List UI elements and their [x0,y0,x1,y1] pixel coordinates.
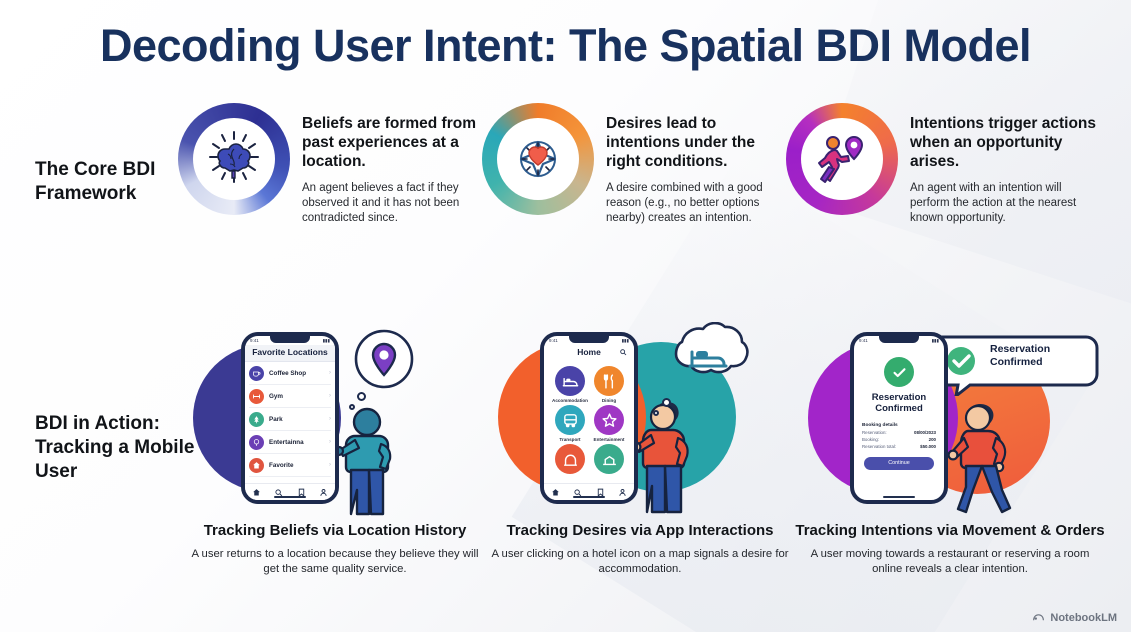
app-tile-entertainment[interactable]: Entertainment [592,405,626,442]
core-bdi-row: Beliefs are formed from past experiences… [0,95,1131,285]
booking-row-label: Reservation: [862,430,887,435]
scene1-caption: Tracking Beliefs via Location History A … [185,522,485,578]
app-tile-label: Entertainment [592,437,626,442]
thought-dot-small [653,410,659,416]
phone-notch [569,336,609,343]
scene-tracking-beliefs: 9:41 ▮▮▮ Favorite Locations Coffee Shop … [185,320,485,620]
booking-row: Reservation total: $50.000 [862,444,936,449]
beliefs-heading: Beliefs are formed from past experiences… [302,115,480,172]
phone-notch [879,336,919,343]
notebooklm-watermark: NotebookLM [1032,611,1117,624]
landmark-icon [594,444,624,474]
intentions-heading: Intentions trigger actions when an oppor… [910,115,1096,172]
list-item-label: Favorite [269,462,324,469]
status-icons: ▮▮▮ [932,338,939,344]
phone-header-title: Home [544,345,634,361]
person-pointing-left-scene [335,406,407,518]
desires-ring [482,103,594,215]
chevron-right-icon: › [329,416,331,422]
app-tile-label: Transport [552,437,588,442]
caption-heading: Tracking Beliefs via Location History [185,522,485,540]
star-icon [594,405,624,435]
bdi-card-intentions: Intentions trigger actions when an oppor… [786,95,1096,275]
list-item[interactable]: Coffee Shop › [249,362,331,385]
booking-row-label: Reservation total: [862,444,896,449]
phone-notch [270,336,310,343]
speech-bubble-text: Reservation Confirmed [990,343,1098,369]
status-icons: ▮▮▮ [323,338,330,344]
phone-header-text: Home [577,347,601,357]
caption-body: A user moving towards a restaurant or re… [795,547,1105,577]
home-icon[interactable] [551,488,560,497]
app-tile-dining[interactable]: Dining [592,366,626,403]
caption-heading: Tracking Intentions via Movement & Order… [795,522,1105,540]
scene-tracking-intentions: Reservation Confirmed 9:41 ▮▮▮ Reservati… [800,320,1100,620]
bdi-card-beliefs: Beliefs are formed from past experiences… [178,95,478,275]
app-tile-label: Accommodation [552,398,588,403]
bdi-in-action-row: 9:41 ▮▮▮ Favorite Locations Coffee Shop … [0,320,1131,620]
infographic-canvas: Decoding User Intent: The Spatial BDI Mo… [0,0,1131,632]
caption-heading: Tracking Desires via App Interactions [490,522,790,540]
booking-row: Booking: 200 [862,437,936,442]
phone-favorite-locations[interactable]: 9:41 ▮▮▮ Favorite Locations Coffee Shop … [241,332,339,504]
page-title: Decoding User Intent: The Spatial BDI Mo… [0,20,1131,72]
continue-button[interactable]: Continue [864,457,934,470]
reservation-confirm-panel: Reservation Confirmed Booking details Re… [854,345,944,470]
caption-body: A user returns to a location because the… [185,547,485,577]
bdi-card-desires: Desires lead to intentions under the rig… [482,95,782,275]
tree-icon [249,412,264,427]
home-icon[interactable] [252,488,261,497]
home-indicator [573,496,605,498]
scene3-caption: Tracking Intentions via Movement & Order… [795,522,1105,578]
running-person-pin-icon [810,127,874,191]
beliefs-ring [178,103,290,215]
confirm-heading: Reservation Confirmed [862,393,936,415]
desires-heading: Desires lead to intentions under the rig… [606,115,784,172]
status-time: 9:41 [549,338,558,343]
profile-icon[interactable] [618,488,627,497]
list-item[interactable]: Park › [249,408,331,431]
entertainment-icon [249,435,264,450]
phone-app-home[interactable]: 9:41 ▮▮▮ Home Accom [540,332,638,504]
scene2-caption: Tracking Desires via App Interactions A … [490,522,790,578]
person-walking-intentions-scene [948,398,1032,518]
intentions-ring [786,103,898,215]
status-time: 9:41 [859,338,868,343]
thought-dot-large [662,398,671,407]
list-item-label: Coffee Shop [269,370,324,377]
chevron-right-icon: › [329,439,331,445]
coffee-cup-icon [249,366,264,381]
favorite-locations-list: Coffee Shop › Gym › [245,362,335,477]
list-item-label: Gym [269,393,324,400]
booking-row-value: $50.000 [920,444,936,449]
bed-icon [555,366,585,396]
list-item[interactable]: Gym › [249,385,331,408]
app-tile-label: Dining [592,398,626,403]
fork-knife-icon [594,366,624,396]
chevron-right-icon: › [329,393,331,399]
app-tile-transport[interactable]: Transport [552,405,588,442]
booking-row-value: 08/00/2023 [914,430,936,435]
list-item-label: Park [269,416,324,423]
status-time: 9:41 [250,338,259,343]
watermark-label: NotebookLM [1050,612,1117,624]
app-tile-extra-2[interactable] [592,444,626,476]
chevron-right-icon: › [329,462,331,468]
phone-reservation-confirmed[interactable]: 9:41 ▮▮▮ Reservation Confirmed Booking d… [850,332,948,504]
beliefs-body: An agent believes a fact if they observe… [302,181,480,227]
booking-row-label: Booking: [862,437,879,442]
app-tile-extra-1[interactable] [552,444,588,476]
list-item-label: Entertainna [269,439,324,446]
home-icon [249,458,264,473]
home-indicator [274,496,306,498]
intentions-body: An agent with an intention will perform … [910,181,1096,227]
notebooklm-icon [1032,611,1045,624]
home-indicator [883,496,915,498]
phone-header-title: Favorite Locations [245,345,335,362]
thought-bubble-map-pin [353,328,415,390]
bus-icon [555,405,585,435]
booking-details: Booking details Reservation: 08/00/2023 … [862,423,936,449]
check-circle-icon [884,357,914,387]
booking-details-title: Booking details [862,423,936,428]
desires-body: A desire combined with a good reason (e.… [606,181,784,227]
thought-dot-large [357,392,366,401]
arch-icon [555,444,585,474]
dumbbell-icon [249,389,264,404]
app-category-grid: Accommodation Dining [544,361,634,476]
beliefs-text-block: Beliefs are formed from past experiences… [302,115,480,227]
status-icons: ▮▮▮ [622,338,629,344]
scene-tracking-desires: 9:41 ▮▮▮ Home Accom [490,320,790,620]
list-item[interactable]: Favorite › [249,454,331,477]
desires-text-block: Desires lead to intentions under the rig… [606,115,784,227]
list-item[interactable]: Entertainna › [249,431,331,454]
intentions-text-block: Intentions trigger actions when an oppor… [910,115,1096,227]
brain-icon [202,127,266,191]
booking-row: Reservation: 08/00/2023 [862,430,936,435]
search-icon[interactable] [619,348,627,356]
caption-body: A user clicking on a hotel icon on a map… [490,547,790,577]
heart-compass-icon [506,127,570,191]
booking-row-value: 200 [929,437,936,442]
thought-dot-small [349,404,355,410]
app-tile-accommodation[interactable]: Accommodation [552,366,588,403]
chevron-right-icon: › [329,370,331,376]
profile-icon[interactable] [319,488,328,497]
thought-cloud-bed [658,322,750,396]
person-pointing-desires-scene [632,398,710,516]
